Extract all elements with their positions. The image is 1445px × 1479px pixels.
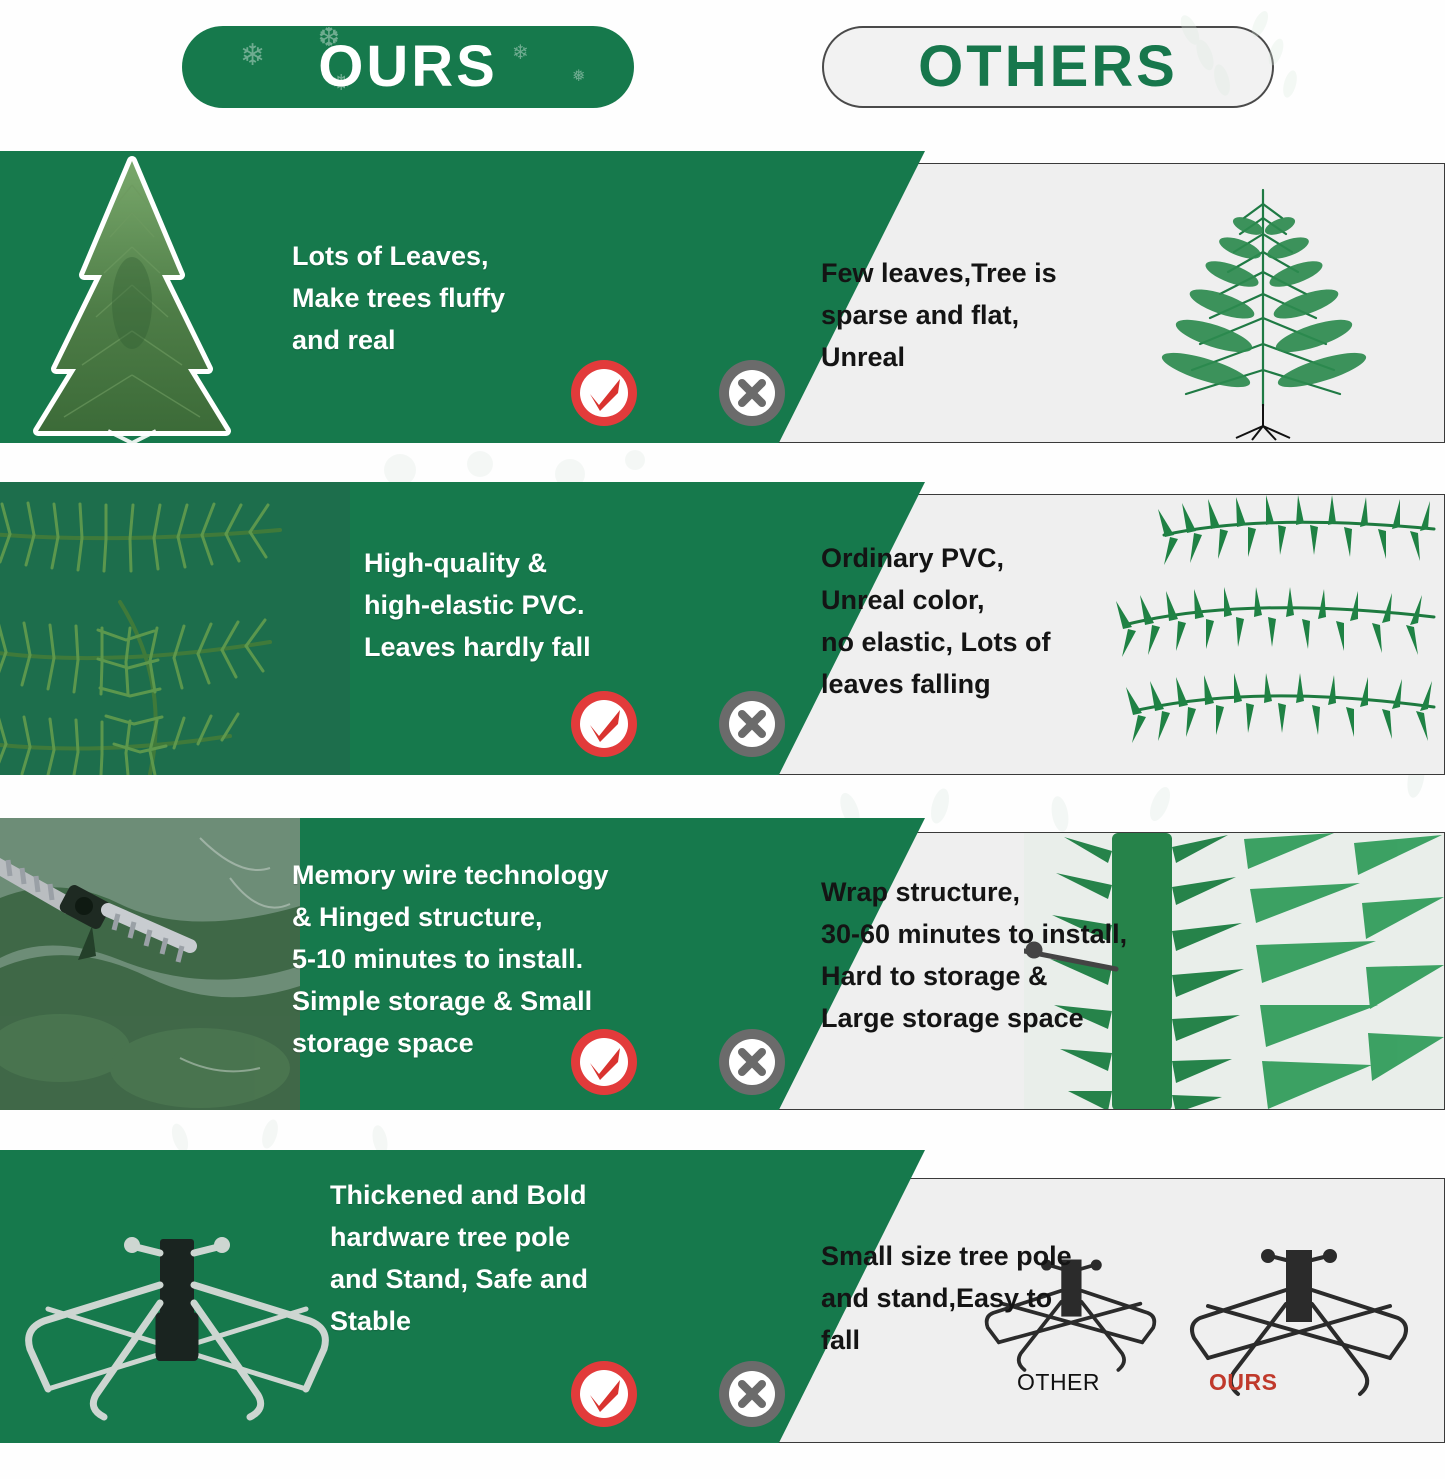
row-structure-others-text: Wrap structure, 30-60 minutes to install… — [821, 871, 1127, 1039]
row-structure: Wrap structure, 30-60 minutes to install… — [0, 818, 1445, 1110]
text-line: 5-10 minutes to install. — [292, 938, 609, 980]
text-line: high-elastic PVC. — [364, 584, 591, 626]
cross-badge-icon — [716, 688, 788, 760]
text-line: Large storage space — [821, 997, 1127, 1039]
text-line: Thickened and Bold — [330, 1174, 588, 1216]
header-ours-label: OURS — [318, 38, 498, 96]
text-line: and real — [292, 319, 505, 361]
header-others-label: OTHERS — [918, 38, 1178, 96]
row-material: Ordinary PVC, Unreal color, no elastic, … — [0, 482, 1445, 775]
text-line: Simple storage & Small — [292, 980, 609, 1022]
text-line: storage space — [292, 1022, 609, 1064]
text-line: Wrap structure, — [821, 871, 1127, 913]
text-line: 30-60 minutes to install, — [821, 913, 1127, 955]
sparse-christmas-tree-image — [1148, 174, 1378, 442]
text-line: Make trees fluffy — [292, 277, 505, 319]
row-stand: OTHER OURS Small size tree pole and stan… — [0, 1150, 1445, 1443]
cross-badge-icon — [716, 1026, 788, 1098]
flat-pvc-branch-image — [1104, 495, 1444, 775]
check-badge-icon — [568, 688, 640, 760]
text-line: Leaves hardly fall — [364, 626, 591, 668]
row-structure-ours-text: Memory wire technology & Hinged structur… — [292, 854, 609, 1064]
text-line: fall — [821, 1319, 1072, 1361]
header: ❄ ❆ ❅ ❄ ❅ OURS OTHERS — [0, 0, 1445, 140]
text-line: Memory wire technology — [292, 854, 609, 896]
text-line: & Hinged structure, — [292, 896, 609, 938]
snowflake-icon: ❄ — [512, 40, 529, 65]
header-pill-ours: ❄ ❆ ❅ ❄ ❅ OURS — [182, 26, 634, 108]
text-line: and stand,Easy to — [821, 1277, 1072, 1319]
header-pill-others: OTHERS — [822, 26, 1274, 108]
row-leaves-others-text: Few leaves,Tree is sparse and flat, Unre… — [821, 252, 1057, 378]
text-line: Stable — [330, 1300, 588, 1342]
row-material-ours-text: High-quality & high-elastic PVC. Leaves … — [364, 542, 591, 668]
hinged-branch-memory-wire-image — [0, 818, 300, 1110]
cross-badge-icon — [716, 1358, 788, 1430]
realistic-pine-branch-image — [0, 482, 350, 775]
cross-badge-icon — [716, 357, 788, 429]
stand-label-ours: OURS — [1209, 1369, 1277, 1396]
text-line: and Stand, Safe and — [330, 1258, 588, 1300]
row-leaves: Few leaves,Tree is sparse and flat, Unre… — [0, 151, 1445, 443]
text-line: leaves falling — [821, 663, 1051, 705]
check-badge-icon — [568, 1358, 640, 1430]
text-line: Lots of Leaves, — [292, 235, 505, 277]
text-line: Unreal color, — [821, 579, 1051, 621]
text-line: Few leaves,Tree is — [821, 252, 1057, 294]
text-line: Ordinary PVC, — [821, 537, 1051, 579]
check-badge-icon — [568, 1026, 640, 1098]
snowflake-icon: ❅ — [572, 66, 585, 86]
row-stand-ours-text: Thickened and Bold hardware tree pole an… — [330, 1174, 588, 1342]
text-line: Unreal — [821, 336, 1057, 378]
text-line: hardware tree pole — [330, 1216, 588, 1258]
heavy-duty-tree-stand-image — [10, 1225, 340, 1425]
snowflake-icon: ❄ — [240, 38, 265, 73]
row-leaves-ours-text: Lots of Leaves, Make trees fluffy and re… — [292, 235, 505, 361]
dense-christmas-tree-image — [12, 155, 252, 443]
row-material-others-text: Ordinary PVC, Unreal color, no elastic, … — [821, 537, 1051, 705]
check-badge-icon — [568, 357, 640, 429]
text-line: Hard to storage & — [821, 955, 1127, 997]
stand-label-other: OTHER — [1017, 1369, 1100, 1396]
text-line: High-quality & — [364, 542, 591, 584]
text-line: no elastic, Lots of — [821, 621, 1051, 663]
text-line: Small size tree pole — [821, 1235, 1072, 1277]
comparison-infographic: ❄ ❆ ❅ ❄ ❅ OURS OTHERS — [0, 0, 1445, 1479]
text-line: sparse and flat, — [821, 294, 1057, 336]
row-stand-others-text: Small size tree pole and stand,Easy to f… — [821, 1235, 1072, 1361]
